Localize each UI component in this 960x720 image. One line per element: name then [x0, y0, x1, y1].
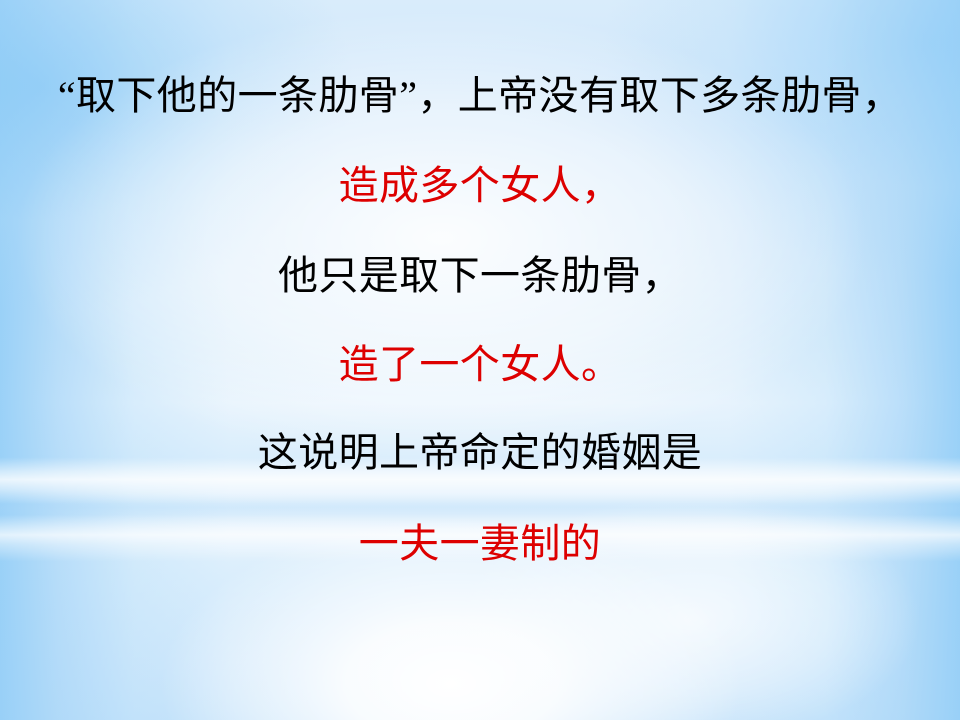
slide-line-1: “取下他的一条肋骨”，上帝没有取下多条肋骨，: [0, 76, 960, 116]
slide-line-6: 一夫一妻制的: [0, 524, 960, 564]
slide-text-body: “取下他的一条肋骨”，上帝没有取下多条肋骨， 造成多个女人， 他只是取下一条肋骨…: [0, 0, 960, 720]
presentation-slide: “取下他的一条肋骨”，上帝没有取下多条肋骨， 造成多个女人， 他只是取下一条肋骨…: [0, 0, 960, 720]
slide-line-4: 造了一个女人。: [0, 345, 960, 385]
slide-line-3: 他只是取下一条肋骨，: [0, 256, 960, 296]
slide-line-5: 这说明上帝命定的婚姻是: [0, 433, 960, 473]
slide-line-2: 造成多个女人，: [0, 166, 960, 206]
